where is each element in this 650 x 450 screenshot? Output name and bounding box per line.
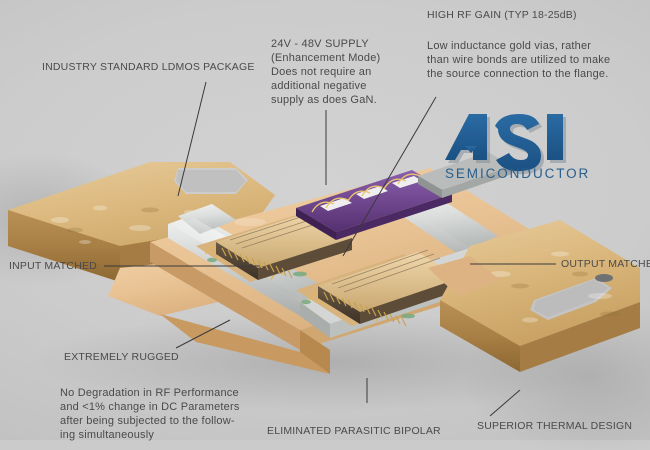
annotation-no-degradation: No Degradation in RF Performance and <1%… [60, 386, 240, 442]
logo-wordmark: SEMICONDUCTOR [445, 166, 590, 181]
annotation-high-rf-gain: HIGH RF GAIN (TYP 18-25dB) [427, 10, 577, 21]
annotation-extremely-rugged: EXTREMELY RUGGED [64, 352, 179, 363]
annotation-eliminated-parasitic-bipolar: ELIMINATED PARASITIC BIPOLAR [267, 426, 441, 437]
annotation-low-inductance-gold-vias: Low inductance gold vias, rather than wi… [427, 39, 610, 81]
leader-thermal-design [490, 390, 520, 416]
asi-semiconductor-logo: SEMICONDUCTOR [443, 112, 593, 184]
illustration-canvas: SEMICONDUCTOR INDUSTRY STANDARD LDMOS PA… [0, 0, 650, 440]
annotation-output-matched: OUTPUT MATCHED [561, 259, 650, 270]
annotation-input-matched: INPUT MATCHED [9, 261, 97, 272]
annotation-industry-standard-ldmos-package: INDUSTRY STANDARD LDMOS PACKAGE [42, 62, 255, 73]
annotation-supply-voltage: 24V - 48V SUPPLY (Enhancement Mode) Does… [271, 37, 380, 107]
leader-extremely-rugged [176, 320, 230, 348]
leader-gold-vias [343, 97, 436, 256]
leader-ldmos-package [178, 82, 206, 196]
annotation-superior-thermal-design: SUPERIOR THERMAL DESIGN [477, 421, 632, 432]
